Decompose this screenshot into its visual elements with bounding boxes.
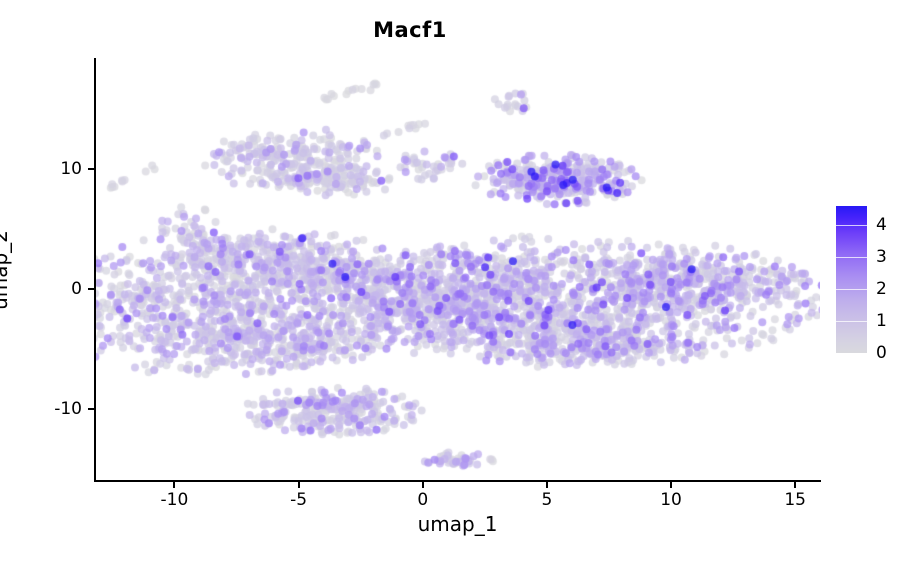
x-tick-label: 10 <box>660 490 682 510</box>
colorbar-tick-label: 3 <box>876 247 887 267</box>
x-axis-label: umap_1 <box>95 512 820 536</box>
x-tick <box>794 482 796 488</box>
colorbar-tick-label: 2 <box>876 279 887 299</box>
umap-feature-plot: Macf1 -10-5051015 100-10 umap_1 umap_2 0… <box>0 0 911 562</box>
colorbar-tick-label: 4 <box>876 215 887 235</box>
x-tick-label: -5 <box>290 490 307 510</box>
colorbar-tick <box>836 225 867 226</box>
x-axis-spine <box>94 480 821 482</box>
y-tick-label: 10 <box>60 159 82 179</box>
colorbar: 01234 <box>836 206 867 353</box>
colorbar-tick <box>836 289 867 290</box>
colorbar-tick <box>836 257 867 258</box>
colorbar-tick-label: 1 <box>876 311 887 331</box>
x-tick <box>422 482 424 488</box>
plot-area <box>95 58 820 481</box>
page-title: Macf1 <box>0 18 820 42</box>
scatter-canvas <box>95 58 820 481</box>
colorbar-gradient <box>836 206 867 353</box>
y-tick <box>88 408 94 410</box>
x-tick-label: 5 <box>541 490 552 510</box>
y-tick-label: -10 <box>54 399 82 419</box>
colorbar-tick-label: 0 <box>876 343 887 363</box>
y-axis-spine <box>94 58 96 482</box>
x-tick <box>298 482 300 488</box>
y-tick <box>88 288 94 290</box>
x-tick <box>173 482 175 488</box>
x-tick <box>546 482 548 488</box>
x-tick-label: 0 <box>417 490 428 510</box>
x-tick <box>670 482 672 488</box>
x-tick-label: -10 <box>161 490 189 510</box>
y-axis-label: umap_2 <box>0 170 12 370</box>
x-tick-label: 15 <box>784 490 806 510</box>
y-tick-label: 0 <box>71 279 82 299</box>
y-tick <box>88 168 94 170</box>
colorbar-tick <box>836 321 867 322</box>
